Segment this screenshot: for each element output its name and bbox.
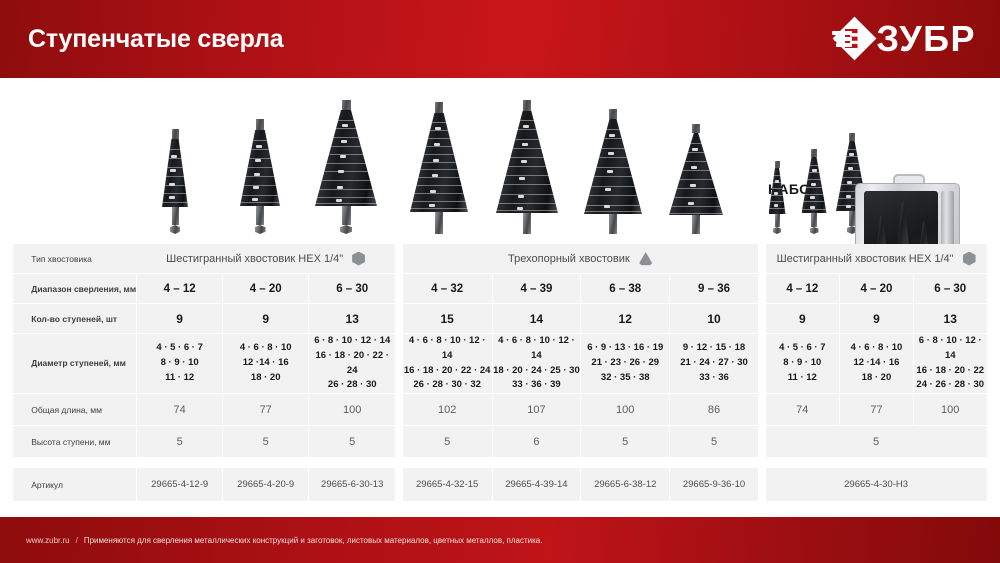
drill-image-4-20 — [228, 119, 292, 234]
table-row-step-height: Высота ступени, мм 5 5 5 5 6 5 5 5 — [0, 426, 1000, 458]
diam-line: 33 · 36 · 39 — [493, 378, 581, 393]
drill-image-6-30 — [305, 100, 387, 234]
cell-len-b1: 107 — [492, 394, 581, 426]
diam-line: 6 · 8 · 10 · 12 · 14 — [914, 334, 987, 363]
cell-len-a2: 100 — [308, 394, 395, 426]
group-header-hex-set: Шестигранный хвостовик HEX 1/4" — [766, 244, 987, 274]
cell-count-b3: 10 — [669, 304, 758, 334]
cell-art-b0: 29665-4-32-15 — [403, 468, 492, 502]
cell-len-b2: 100 — [580, 394, 669, 426]
diam-line: 32 · 35 · 38 — [581, 371, 669, 386]
diam-line: 6 · 8 · 10 · 12 · 14 — [309, 334, 395, 349]
cell-diam-c0: 4 · 5 · 6 · 7 8 · 9 · 10 11 · 12 — [766, 334, 840, 394]
cell-range-a2: 6 – 30 — [308, 274, 395, 304]
diam-line: 16 · 18 · 20 · 22 · 24 — [309, 349, 395, 378]
brand-name: ЗУБР — [877, 21, 976, 57]
table-row-total-length: Общая длина, мм 74 77 100 102 107 100 86… — [0, 394, 1000, 426]
page-header: Ступенчатые сверла ЗУБР — [0, 0, 1000, 78]
row-label-shank-type: Тип хвостовика — [13, 244, 136, 274]
cell-len-c2: 100 — [913, 394, 987, 426]
table-row-drill-range: Диапазон сверления, мм 4 – 12 4 – 20 6 –… — [0, 274, 1000, 304]
cell-diam-b0: 4 · 6 · 8 · 10 · 12 · 14 16 · 18 · 20 · … — [403, 334, 492, 394]
cell-diam-b3: 9 · 12 · 15 · 18 21 · 24 · 27 · 30 33 · … — [669, 334, 758, 394]
cell-count-c0: 9 — [766, 304, 840, 334]
cell-diam-a1: 4 · 6 · 8 · 10 12 ·14 · 16 18 · 20 — [222, 334, 308, 394]
set-drill-medium — [795, 149, 833, 234]
cell-art-a2: 29665-6-30-13 — [308, 468, 395, 502]
cell-len-a0: 74 — [136, 394, 222, 426]
diam-line: 11 · 12 — [766, 371, 840, 386]
cell-len-c0: 74 — [766, 394, 840, 426]
cell-len-a1: 77 — [222, 394, 308, 426]
cell-len-c1: 77 — [839, 394, 913, 426]
cell-range-b0: 4 – 32 — [403, 274, 492, 304]
diam-line: 33 · 36 — [670, 371, 758, 386]
drill-image-4-32 — [400, 102, 478, 234]
drill-image-6-38 — [575, 109, 651, 234]
diam-line: 21 · 23 · 26 · 29 — [581, 356, 669, 371]
diam-line: 4 · 5 · 6 · 7 — [137, 341, 222, 356]
diam-line: 8 · 9 · 10 — [766, 356, 840, 371]
cell-art-a1: 29665-4-20-9 — [222, 468, 308, 502]
diam-line: 16 · 18 · 20 · 22 — [914, 364, 987, 379]
cell-art-b2: 29665-6-38-12 — [580, 468, 669, 502]
cell-step-b3: 5 — [669, 426, 758, 458]
page-footer: www.zubr.ru / Применяются для сверления … — [0, 517, 1000, 563]
group-header-hex-set-text: Шестигранный хвостовик HEX 1/4" — [777, 253, 954, 265]
cell-diam-c2: 6 · 8 · 10 · 12 · 14 16 · 18 · 20 · 22 2… — [913, 334, 987, 394]
cell-count-a0: 9 — [136, 304, 222, 334]
diam-line: 4 · 6 · 8 · 10 — [223, 341, 308, 356]
row-label-step-diameter: Диаметр ступеней, мм — [13, 334, 136, 394]
cell-art-a0: 29665-4-12-9 — [136, 468, 222, 502]
set-drill-small — [762, 161, 792, 234]
diam-line: 12 ·14 · 16 — [223, 356, 308, 371]
cell-range-c0: 4 – 12 — [766, 274, 840, 304]
cell-art-b1: 29665-4-39-14 — [492, 468, 581, 502]
footer-website[interactable]: www.zubr.ru — [26, 536, 70, 545]
product-spec-sheet: Ступенчатые сверла ЗУБР — [0, 0, 1000, 563]
table-row-article: Артикул 29665-4-12-9 29665-4-20-9 29665-… — [0, 468, 1000, 502]
cell-step-b2: 5 — [580, 426, 669, 458]
group-header-tripod: Трехопорный хвостовик — [403, 244, 758, 274]
cell-diam-b1: 4 · 6 · 8 · 10 · 12 · 14 18 · 20 · 24 · … — [492, 334, 581, 394]
group-header-tripod-text: Трехопорный хвостовик — [508, 253, 630, 265]
cell-step-b1: 6 — [492, 426, 581, 458]
group-header-hex: Шестигранный хвостовик HEX 1/4" — [136, 244, 395, 274]
row-label-step-count: Кол-во ступеней, шт — [13, 304, 136, 334]
footer-separator: / — [76, 536, 78, 545]
cell-count-b0: 15 — [403, 304, 492, 334]
cell-step-a0: 5 — [136, 426, 222, 458]
drill-image-9-36 — [660, 124, 732, 234]
brand-logo: ЗУБР — [832, 20, 976, 58]
cell-range-c1: 4 – 20 — [839, 274, 913, 304]
cell-count-a2: 13 — [308, 304, 395, 334]
diam-line: 21 · 24 · 27 · 30 — [670, 356, 758, 371]
diam-line: 18 · 20 — [223, 371, 308, 386]
row-label-article: Артикул — [13, 468, 136, 502]
cell-range-b3: 9 – 36 — [669, 274, 758, 304]
spec-table-container: Тип хвостовика Шестигранный хвостовик HE… — [0, 244, 1000, 502]
cell-count-a1: 9 — [222, 304, 308, 334]
cell-range-a1: 4 – 20 — [222, 274, 308, 304]
diam-line: 24 · 26 · 28 · 30 — [914, 378, 987, 393]
triangle-icon — [639, 252, 653, 266]
diam-line: 4 · 6 · 8 · 10 — [840, 341, 913, 356]
cell-step-b0: 5 — [403, 426, 492, 458]
cell-range-b2: 6 – 38 — [580, 274, 669, 304]
cell-count-c1: 9 — [839, 304, 913, 334]
diam-line: 9 · 12 · 15 · 18 — [670, 341, 758, 356]
table-row-step-diameter: Диаметр ступеней, мм 4 · 5 · 6 · 7 8 · 9… — [0, 334, 1000, 394]
drill-image-4-12 — [152, 129, 198, 234]
table-row-spacer — [0, 458, 1000, 468]
diam-line: 12 ·14 · 16 — [840, 356, 913, 371]
footer-note: Применяются для сверления металлических … — [84, 536, 543, 545]
diam-line: 18 · 20 · 24 · 25 · 30 — [493, 364, 581, 379]
row-label-total-length: Общая длина, мм — [13, 394, 136, 426]
cell-count-b1: 14 — [492, 304, 581, 334]
cell-count-c2: 13 — [913, 304, 987, 334]
cell-range-b1: 4 – 39 — [492, 274, 581, 304]
row-label-drill-range: Диапазон сверления, мм — [13, 274, 136, 304]
page-title: Ступенчатые сверла — [28, 25, 283, 54]
hexagon-icon-set — [963, 252, 976, 266]
cell-art-c-set: 29665-4-30-Н3 — [766, 468, 987, 502]
diam-line: 16 · 18 · 20 · 22 · 24 — [403, 364, 492, 379]
diam-line: 18 · 20 — [840, 371, 913, 386]
diam-line: 4 · 6 · 8 · 10 · 12 · 14 — [403, 334, 492, 363]
zubr-diamond-icon — [832, 20, 870, 58]
cell-len-b3: 86 — [669, 394, 758, 426]
cell-step-a2: 5 — [308, 426, 395, 458]
table-row-shank-type: Тип хвостовика Шестигранный хвостовик HE… — [0, 244, 1000, 274]
diam-line: 4 · 6 · 8 · 10 · 12 · 14 — [493, 334, 581, 363]
cell-step-c-all: 5 — [766, 426, 987, 458]
cell-len-b0: 102 — [403, 394, 492, 426]
cell-diam-a0: 4 · 5 · 6 · 7 8 · 9 · 10 11 · 12 — [136, 334, 222, 394]
table-row-step-count: Кол-во ступеней, шт 9 9 13 15 14 12 10 9… — [0, 304, 1000, 334]
cell-diam-b2: 6 · 9 · 13 · 16 · 19 21 · 23 · 26 · 29 3… — [580, 334, 669, 394]
drill-image-4-39 — [487, 100, 567, 234]
diam-line: 4 · 5 · 6 · 7 — [766, 341, 840, 356]
diam-line: 11 · 12 — [137, 371, 222, 386]
group-header-hex-text: Шестигранный хвостовик HEX 1/4" — [166, 253, 343, 265]
cell-diam-c1: 4 · 6 · 8 · 10 12 ·14 · 16 18 · 20 — [839, 334, 913, 394]
diam-line: 26 · 28 · 30 · 32 — [403, 378, 492, 393]
cell-diam-a2: 6 · 8 · 10 · 12 · 14 16 · 18 · 20 · 22 ·… — [308, 334, 395, 394]
diam-line: 6 · 9 · 13 · 16 · 19 — [581, 341, 669, 356]
spec-table: Тип хвостовика Шестигранный хвостовик HE… — [0, 244, 1000, 502]
hexagon-icon — [352, 252, 365, 266]
cell-step-a1: 5 — [222, 426, 308, 458]
diam-line: 8 · 9 · 10 — [137, 356, 222, 371]
row-label-step-height: Высота ступени, мм — [13, 426, 136, 458]
cell-range-c2: 6 – 30 — [913, 274, 987, 304]
cell-count-b2: 12 — [580, 304, 669, 334]
cell-art-b3: 29665-9-36-10 — [669, 468, 758, 502]
product-image-strip: НАБОР — [0, 78, 1000, 244]
cell-range-a0: 4 – 12 — [136, 274, 222, 304]
diam-line: 26 · 28 · 30 — [309, 378, 395, 393]
